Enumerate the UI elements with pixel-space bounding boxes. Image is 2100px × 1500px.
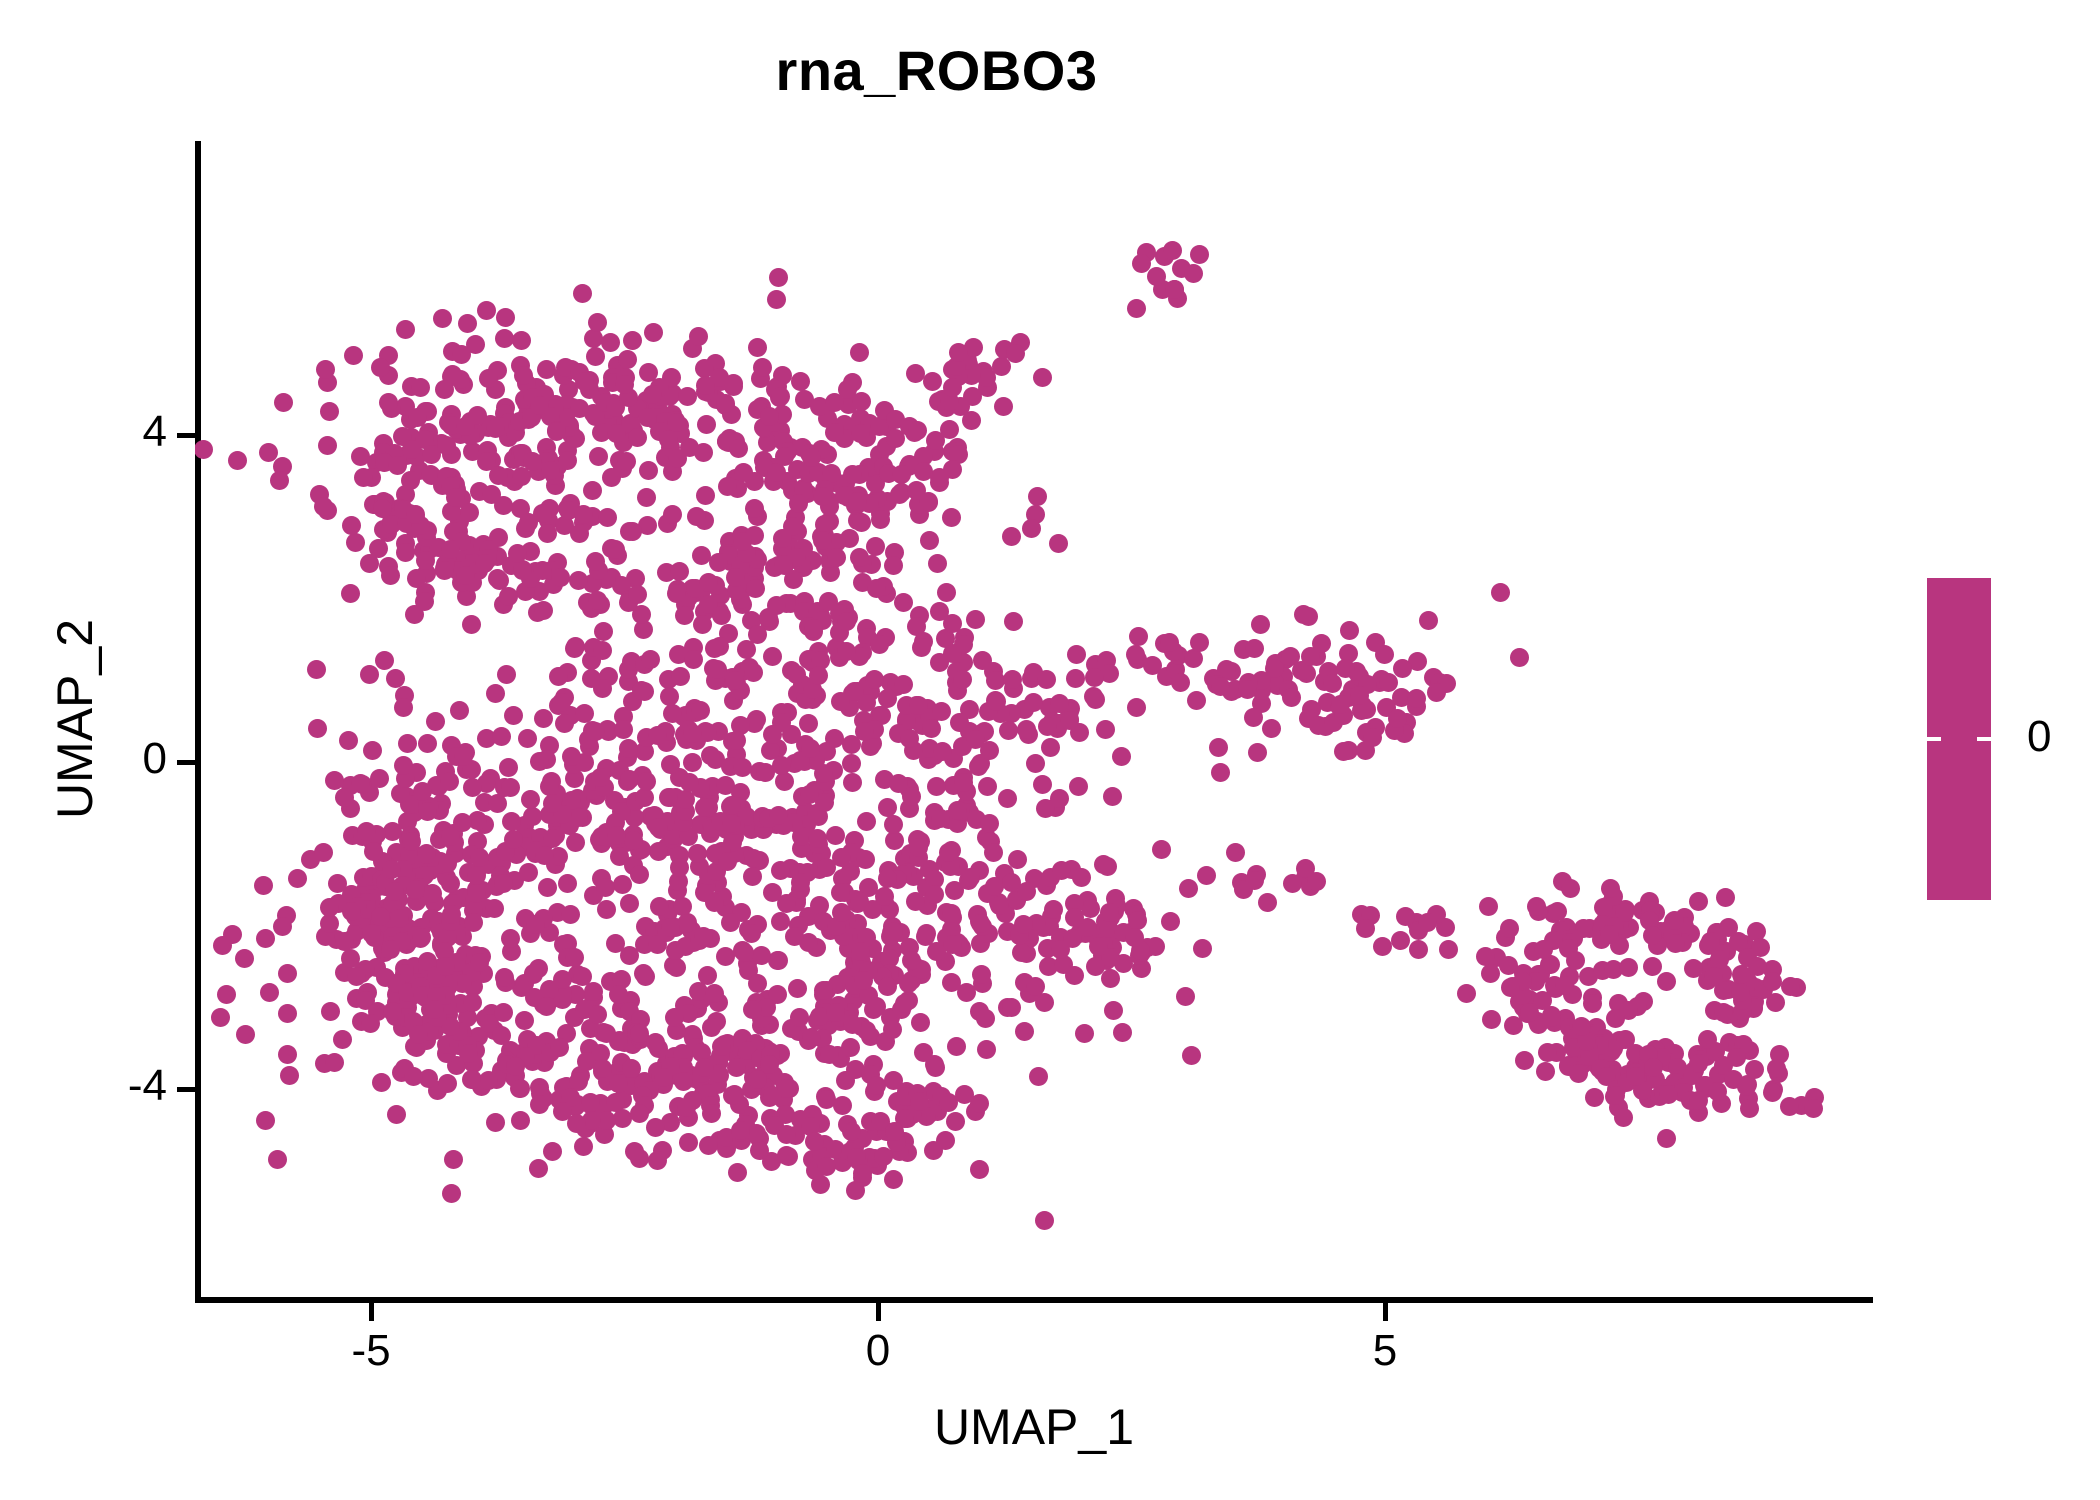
scatter-point [630,1104,649,1123]
scatter-point [371,907,390,926]
scatter-point [615,375,634,394]
scatter-point [744,849,763,868]
scatter-point [850,892,869,911]
scatter-point [360,665,379,684]
scatter-point [865,670,884,689]
scatter-point [1003,670,1022,689]
scatter-point [639,461,658,480]
scatter-point [696,486,715,505]
scatter-point [344,346,363,365]
scatter-point [779,1147,798,1166]
scatter-point [846,1181,865,1200]
scatter-point [752,946,771,965]
scatter-point [699,573,718,592]
scatter-point [1065,908,1084,927]
scatter-point [827,548,846,567]
scatter-point [771,387,790,406]
scatter-point [1226,843,1245,862]
scatter-point [273,917,292,936]
scatter-point [773,529,792,548]
scatter-point [1182,1046,1201,1065]
scatter-point [774,555,793,574]
scatter-point [634,964,653,983]
scatter-point [1375,645,1394,664]
scatter-point [475,554,494,573]
scatter-point [1572,1017,1591,1036]
scatter-point [411,378,430,397]
scatter-point [725,671,744,690]
figure-canvas: rna_ROBO3 -404 -505 UMAP_1 UMAP_2 0 [0,0,2100,1500]
scatter-point [1262,719,1281,738]
scatter-point [727,731,746,750]
scatter-point [850,343,869,362]
scatter-point [523,807,542,826]
scatter-point [596,878,615,897]
scatter-point [1101,969,1120,988]
scatter-point [966,610,985,629]
scatter-point [693,615,712,634]
scatter-point [884,556,903,575]
scatter-point [1614,1108,1633,1127]
scatter-point [1104,1001,1123,1020]
scatter-point [1163,241,1182,260]
scatter-point [702,1104,721,1123]
scatter-point [1714,1003,1733,1022]
scatter-point [617,452,636,471]
scatter-point [932,702,951,721]
scatter-point [485,899,504,918]
scatter-point [499,587,518,606]
scatter-point [943,614,962,633]
scatter-point [697,415,716,434]
scatter-point [837,642,856,661]
scatter-point [1127,698,1146,717]
scatter-point [583,481,602,500]
scatter-point [569,571,588,590]
scatter-point [1126,645,1145,664]
scatter-point [575,372,594,391]
scatter-point [1538,1043,1557,1062]
scatter-point [543,1142,562,1161]
scatter-point [618,350,637,369]
scatter-point [678,387,697,406]
scatter-point [894,593,913,612]
scatter-point [601,333,620,352]
scatter-point [494,1003,513,1022]
scatter-point [970,1160,989,1179]
scatter-point [990,896,1009,915]
scatter-point [1555,976,1574,995]
scatter-point [684,650,703,669]
scatter-point [614,720,633,739]
scatter-point [1063,929,1082,948]
x-tick-mark [1383,1303,1388,1321]
scatter-point [406,505,425,524]
scatter-point [712,1037,731,1056]
scatter-point [1165,280,1184,299]
scatter-point [630,865,649,884]
scatter-point [1689,892,1708,911]
scatter-point [372,1073,391,1092]
scatter-point [511,1079,530,1098]
scatter-point [722,796,741,815]
scatter-point [1594,898,1613,917]
scatter-point [573,284,592,303]
scatter-point [1388,709,1407,728]
scatter-point [718,477,737,496]
scatter-point [521,790,540,809]
scatter-point [436,957,455,976]
scatter-point [977,1040,996,1059]
scatter-point [1419,611,1438,630]
scatter-point [1356,919,1375,938]
scatter-point [667,584,686,603]
scatter-point [486,419,505,438]
scatter-point [680,773,699,792]
scatter-point [412,928,431,947]
scatter-point [441,874,460,893]
scatter-point [537,997,556,1016]
scatter-point [870,635,889,654]
scatter-point [1501,978,1520,997]
scatter-point [529,1159,548,1178]
scatter-point [970,1094,989,1113]
scatter-point [623,522,642,541]
scatter-point [1482,1010,1501,1029]
scatter-point [667,958,686,977]
scatter-point [1515,1051,1534,1070]
scatter-point [902,787,921,806]
scatter-point [456,566,475,585]
x-tick-label: 0 [818,1326,938,1376]
scatter-point [802,1028,821,1047]
scatter-point [1022,519,1041,538]
scatter-point [984,843,1003,862]
scatter-point [1017,882,1036,901]
x-tick-mark [369,1303,374,1321]
scatter-point [856,850,875,869]
scatter-point [978,777,997,796]
scatter-point [1152,840,1171,859]
scatter-point [502,812,521,831]
scatter-point [537,360,556,379]
scatter-point [670,858,689,877]
scatter-point [637,772,656,791]
scatter-point [1657,1129,1676,1148]
scatter-point [742,924,761,943]
scatter-point [665,1008,684,1027]
scatter-point [1028,487,1047,506]
scatter-point [1481,964,1500,983]
scatter-point [1248,743,1267,762]
scatter-point [375,651,394,670]
scatter-point [1283,874,1302,893]
scatter-point [260,983,279,1002]
scatter-point [1616,1030,1635,1049]
scatter-point [341,584,360,603]
scatter-point [463,993,482,1012]
scatter-point [1407,689,1426,708]
scatter-point [817,1157,836,1176]
scatter-point [644,323,663,342]
scatter-point [836,1071,855,1090]
scatter-point [674,1072,693,1091]
scatter-point [1086,690,1105,709]
scatter-point [1698,1030,1717,1049]
scatter-point [805,1132,824,1151]
scatter-point [486,684,505,703]
scatter-point [809,666,828,685]
scatter-point [1536,1062,1555,1081]
scatter-point [1606,1009,1625,1028]
scatter-point [387,1105,406,1124]
scatter-point [911,1013,930,1032]
y-axis-label: UMAP_2 [46,399,104,1039]
scatter-point [895,994,914,1013]
scatter-point [1600,925,1619,944]
scatter-point [661,918,680,937]
scatter-point [1251,615,1270,634]
scatter-point [561,905,580,924]
scatter-point [712,606,731,625]
scatter-point [871,510,890,529]
scatter-point [495,968,514,987]
scatter-point [504,830,523,849]
scatter-point [728,1163,747,1182]
scatter-point [649,842,668,861]
scatter-point [588,1005,607,1024]
scatter-point [402,440,421,459]
scatter-point [278,964,297,983]
scatter-point [746,579,765,598]
scatter-point [900,729,919,748]
scatter-point [1657,972,1676,991]
scatter-point [1209,738,1228,757]
scatter-point [883,1020,902,1039]
scatter-point [1396,907,1415,926]
scatter-point [1583,994,1602,1013]
scatter-point [874,1147,893,1166]
scatter-point [488,794,507,813]
scatter-point [217,985,236,1004]
scatter-point [933,742,952,761]
scatter-point [438,854,457,873]
scatter-point [1026,977,1045,996]
scatter-point [775,447,794,466]
scatter-point [1476,947,1495,966]
scatter-point [570,524,589,543]
scatter-point [1340,621,1359,640]
scatter-point [538,878,557,897]
scatter-point [1002,998,1021,1017]
scatter-point [314,843,333,862]
scatter-point [492,727,511,746]
scatter-point [1160,633,1179,652]
scatter-point [586,552,605,571]
scatter-point [394,698,413,717]
scatter-point [566,833,585,852]
scatter-point [659,430,678,449]
scatter-point [479,1071,498,1090]
scatter-point [511,1111,530,1130]
scatter-point [790,1008,809,1027]
scatter-point [1112,747,1131,766]
scatter-point [637,488,656,507]
scatter-point [1719,918,1738,937]
scatter-point [425,1000,444,1019]
scatter-point [912,638,931,657]
scatter-point [906,892,925,911]
scatter-point [308,719,327,738]
scatter-point [1299,607,1318,626]
scatter-point [357,822,376,841]
scatter-point [689,327,708,346]
scatter-point [440,772,459,791]
scatter-point [435,561,454,580]
scatter-point [733,532,752,551]
scatter-point [1716,888,1735,907]
scatter-point [726,568,745,587]
scatter-point [676,790,695,809]
scatter-point [721,913,740,932]
scatter-point [1561,879,1580,898]
scatter-point [1500,919,1519,938]
scatter-point [547,422,566,441]
scatter-point [735,943,754,962]
scatter-point [497,665,516,684]
scatter-point [534,709,553,728]
scatter-point [1767,1059,1786,1078]
scatter-point [842,754,861,773]
scatter-point [597,1024,616,1043]
scatter-point [648,726,667,745]
scatter-point [923,372,942,391]
scatter-point [402,832,421,851]
scatter-point [598,508,617,527]
scatter-point [1566,951,1585,970]
scatter-point [826,826,845,845]
scatter-point [479,369,498,388]
scatter-point [446,488,465,507]
x-tick-label: -5 [311,1326,431,1376]
scatter-point [555,714,574,733]
scatter-point [407,569,426,588]
scatter-point [878,689,897,708]
scatter-point [663,505,682,524]
scatter-point [1763,972,1782,991]
scatter-point [519,863,538,882]
scatter-point [628,585,647,604]
scatter-point [1161,912,1180,931]
scatter-point [1089,937,1108,956]
scatter-point [1781,977,1800,996]
scatter-point [396,543,415,562]
scatter-point [371,358,390,377]
scatter-point [1245,871,1264,890]
scatter-point [435,380,454,399]
scatter-point [625,1142,644,1161]
scatter-point [381,940,400,959]
scatter-point [1012,943,1031,962]
scatter-point [499,758,518,777]
scatter-point [1008,850,1027,869]
scatter-point [213,936,232,955]
scatter-point [496,308,515,327]
scatter-point [791,873,810,892]
scatter-point [1072,868,1091,887]
scatter-point [1197,866,1216,885]
scatter-point [433,309,452,328]
scatter-point [769,951,788,970]
scatter-point [760,407,779,426]
x-tick-label: 5 [1325,1326,1445,1376]
scatter-point [423,884,442,903]
scatter-point [947,1037,966,1056]
scatter-point [646,1033,665,1052]
scatter-point [1067,645,1086,664]
scatter-point [318,436,337,455]
scatter-point [942,508,961,527]
scatter-point [971,914,990,933]
scatter-point [937,583,956,602]
scatter-point [211,1008,230,1027]
scatter-point [691,701,710,720]
scatter-point [1457,984,1476,1003]
scatter-point [369,539,388,558]
scatter-point [1015,1022,1034,1041]
scatter-point [422,445,441,464]
scatter-point [841,1038,860,1057]
scatter-point [946,1112,965,1131]
scatter-point [953,670,972,689]
scatter-point [753,358,772,377]
scatter-point [854,971,873,990]
scatter-point [288,869,307,888]
scatter-point [364,842,383,861]
scatter-point [1190,245,1209,264]
scatter-point [593,641,612,660]
scatter-point [973,651,992,670]
scatter-point [470,953,489,972]
scatter-point [1258,893,1277,912]
scatter-point [1098,857,1117,876]
scatter-point [788,979,807,998]
scatter-point [695,1058,714,1077]
scatter-point [1085,668,1104,687]
scatter-point [381,566,400,585]
scatter-point [1479,897,1498,916]
page-title: rna_ROBO3 [0,38,1873,103]
scatter-point [927,777,946,796]
scatter-point [1542,1008,1561,1027]
scatter-point [966,730,985,749]
scatter-point [851,424,870,443]
scatter-point [307,660,326,679]
scatter-point [804,619,823,638]
scatter-point [404,1067,423,1086]
scatter-point [718,852,737,871]
scatter-point [1373,937,1392,956]
scatter-point [588,313,607,332]
scatter-point [1708,1082,1727,1101]
scatter-point [453,813,472,832]
scatter-point [1323,674,1342,693]
scatter-point [867,997,886,1016]
scatter-point [1356,741,1375,760]
scatter-point [515,1011,534,1030]
scatter-point [1037,670,1056,689]
scatter-point [1548,902,1567,921]
